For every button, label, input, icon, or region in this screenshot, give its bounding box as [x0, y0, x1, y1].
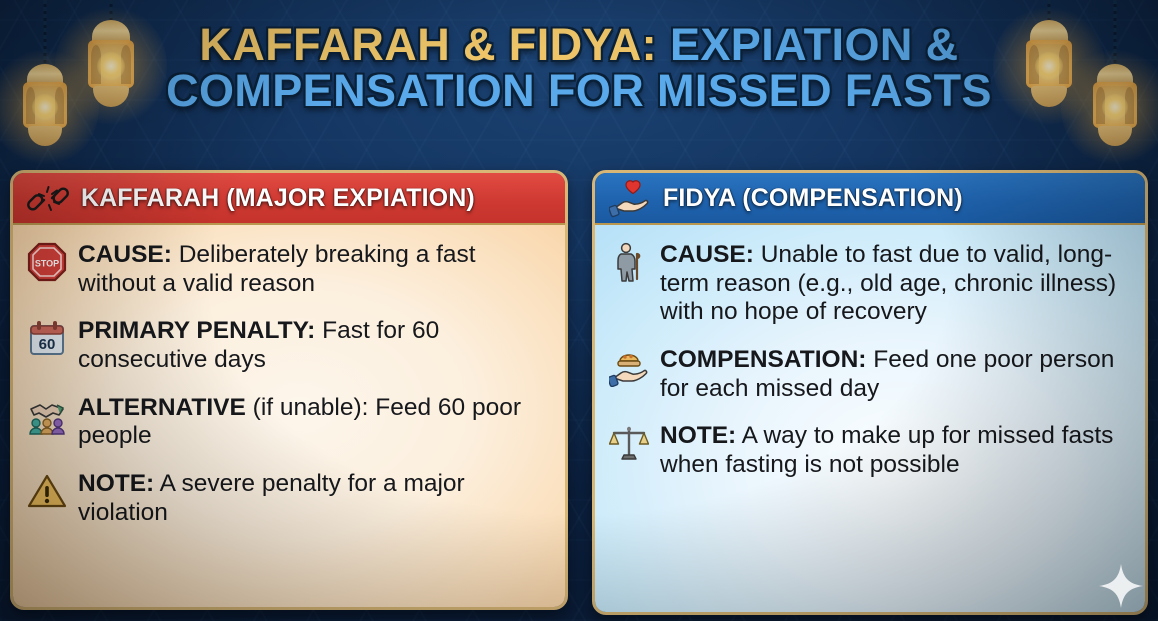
hand-food-bowl-icon [609, 347, 649, 387]
elderly-person-cane-icon [609, 242, 649, 282]
list-item-label: CAUSE: [78, 241, 172, 268]
card-fidya-title: FIDYA (COMPENSATION) [663, 184, 963, 213]
list-item: 60 PRIMARY PENALTY: Fast for 60 consecut… [27, 317, 549, 374]
scales-balance-icon [609, 423, 649, 463]
list-item-label-suffix: (if unable): [246, 394, 369, 421]
card-kaffarah-body: STOP CAUSE: Deliberately breaking a fast… [13, 225, 565, 607]
calendar-60-icon: 60 [27, 318, 67, 358]
lantern-chain [110, 0, 113, 22]
list-item-text: NOTE: A severe penalty for a major viola… [78, 470, 549, 527]
title-line-2: COMPENSATION FOR MISSED FASTS [0, 68, 1158, 114]
list-item-label: COMPENSATION: [660, 346, 866, 373]
card-kaffarah: KAFFARAH (MAJOR EXPIATION) STOP CAUSE: D… [10, 170, 568, 610]
title-blue-part-1 [657, 19, 670, 70]
lantern-base [28, 126, 62, 146]
list-item: CAUSE: Unable to fast due to valid, long… [609, 241, 1129, 327]
list-item: COMPENSATION: Feed one poor person for e… [609, 346, 1129, 403]
list-item: NOTE: A severe penalty for a major viola… [27, 470, 549, 527]
title-gold-part: KAFFARAH & FIDYA: [199, 19, 657, 70]
lantern-chain [1048, 0, 1051, 22]
card-fidya-body: CAUSE: Unable to fast due to valid, long… [595, 225, 1145, 612]
card-fidya-header: FIDYA (COMPENSATION) [595, 173, 1145, 225]
list-item-label: NOTE: [660, 422, 736, 449]
broken-chain-icon [27, 178, 69, 218]
warning-triangle-icon [27, 471, 67, 511]
calendar-number: 60 [39, 336, 56, 353]
card-kaffarah-header: KAFFARAH (MAJOR EXPIATION) [13, 173, 565, 225]
card-kaffarah-title: KAFFARAH (MAJOR EXPIATION) [81, 184, 475, 213]
title-blue-part-2: EXPIATION & [670, 19, 959, 70]
list-item-text: CAUSE: Deliberately breaking a fast with… [78, 241, 549, 298]
handshake-people-icon [27, 395, 67, 435]
list-item-text: ALTERNATIVE (if unable): Feed 60 poor pe… [78, 394, 549, 451]
list-item-label: CAUSE: [660, 241, 754, 268]
list-item-label: NOTE: [78, 470, 154, 497]
list-item-text: PRIMARY PENALTY: Fast for 60 consecutive… [78, 317, 549, 374]
page-title: KAFFARAH & FIDYA: EXPIATION & COMPENSATI… [0, 22, 1158, 114]
svg-text:STOP: STOP [35, 259, 59, 269]
hand-heart-icon [609, 178, 651, 218]
infographic-canvas: KAFFARAH & FIDYA: EXPIATION & COMPENSATI… [0, 0, 1158, 621]
lantern-base [1098, 126, 1132, 146]
stop-sign-icon: STOP [27, 242, 67, 282]
list-item: STOP CAUSE: Deliberately breaking a fast… [27, 241, 549, 298]
list-item-text: CAUSE: Unable to fast due to valid, long… [660, 241, 1129, 327]
list-item-label: PRIMARY PENALTY: [78, 317, 315, 344]
list-item-text: NOTE: A way to make up for missed fasts … [660, 422, 1129, 479]
list-item-label: ALTERNATIVE [78, 394, 246, 421]
card-fidya: FIDYA (COMPENSATION) CAUSE: Unable to fa… [592, 170, 1148, 615]
list-item: NOTE: A way to make up for missed fasts … [609, 422, 1129, 479]
list-item-text: COMPENSATION: Feed one poor person for e… [660, 346, 1129, 403]
list-item: ALTERNATIVE (if unable): Feed 60 poor pe… [27, 394, 549, 451]
